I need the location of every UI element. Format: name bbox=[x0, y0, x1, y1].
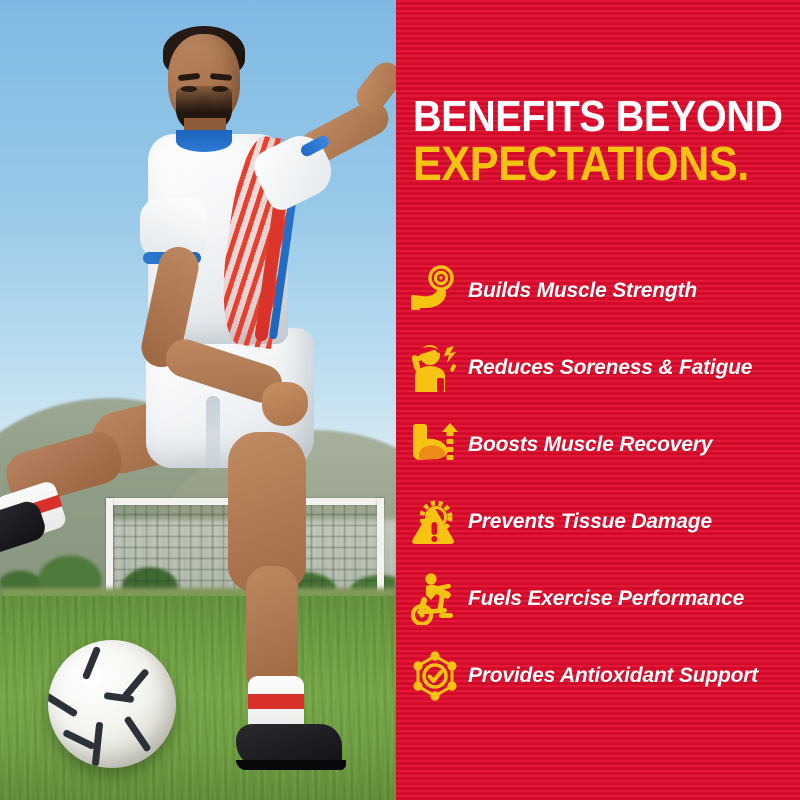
benefit-item: Builds Muscle Strength bbox=[404, 252, 800, 329]
athlete-figure bbox=[0, 0, 396, 800]
headline-line-1: BENEFITS BEYOND bbox=[413, 96, 759, 138]
headline-line-2: EXPECTATIONS. bbox=[413, 142, 759, 188]
hand-left bbox=[262, 382, 308, 426]
benefit-item: Provides Antioxidant Support bbox=[404, 637, 800, 714]
athlete-photo bbox=[0, 0, 396, 800]
benefit-label: Provides Antioxidant Support bbox=[468, 664, 758, 688]
benefit-item: Prevents Tissue Damage bbox=[404, 483, 800, 560]
benefit-item: Reduces Soreness & Fatigue bbox=[404, 329, 800, 406]
headline: BENEFITS BEYOND EXPECTATIONS. bbox=[413, 96, 797, 187]
benefit-item: Fuels Exercise Performance bbox=[404, 560, 800, 637]
shorts-fold bbox=[206, 396, 220, 470]
leg-right-shin bbox=[246, 566, 298, 694]
arm-dumbbell-icon bbox=[406, 262, 464, 320]
benefit-label: Prevents Tissue Damage bbox=[468, 510, 712, 534]
sore-head-icon bbox=[406, 339, 464, 397]
warning-gear-icon bbox=[406, 493, 464, 551]
bicep-arrow-icon bbox=[406, 416, 464, 474]
benefit-label: Fuels Exercise Performance bbox=[468, 587, 744, 611]
exercise-bike-icon bbox=[406, 570, 464, 628]
molecule-check-icon bbox=[406, 647, 464, 705]
benefits-list: Builds Muscle Strength bbox=[404, 252, 800, 714]
benefit-label: Boosts Muscle Recovery bbox=[468, 433, 712, 457]
benefits-poster: BENEFITS BEYOND EXPECTATIONS. bbox=[0, 0, 800, 800]
jersey-collar bbox=[176, 130, 232, 152]
benefit-label: Reduces Soreness & Fatigue bbox=[468, 356, 752, 380]
cleat-right-sole bbox=[236, 760, 346, 770]
benefit-item: Boosts Muscle Recovery bbox=[404, 406, 800, 483]
sock-right-stripe bbox=[248, 694, 304, 709]
benefit-label: Builds Muscle Strength bbox=[468, 279, 697, 303]
benefits-panel: BENEFITS BEYOND EXPECTATIONS. bbox=[396, 0, 800, 800]
